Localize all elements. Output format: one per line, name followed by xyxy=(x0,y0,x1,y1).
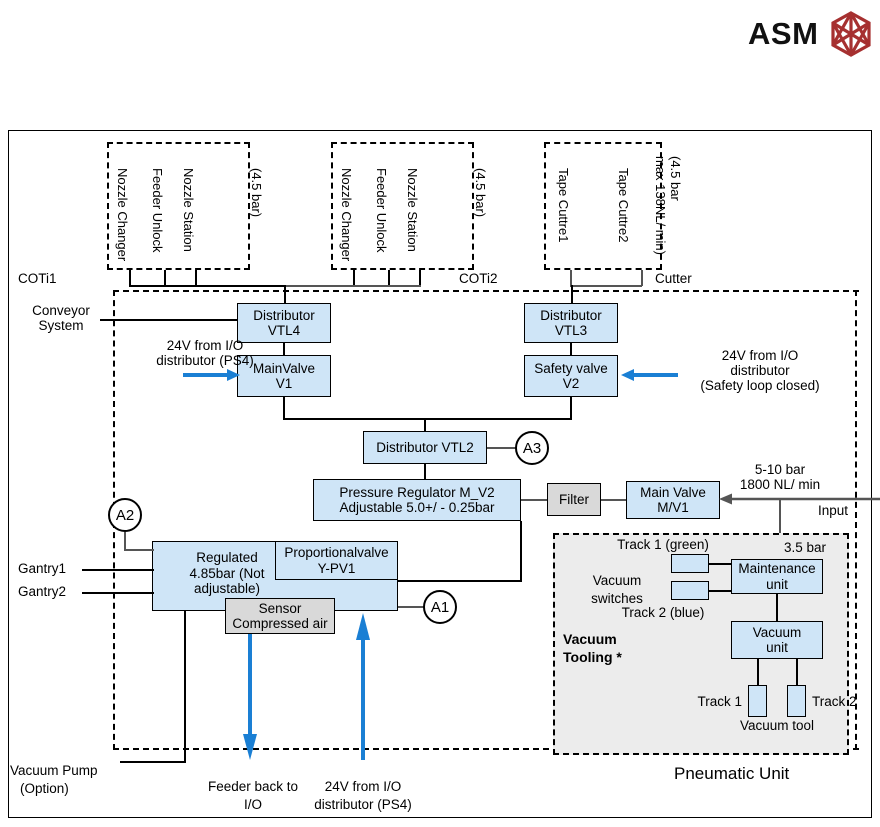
box-sensor-compressed-air[interactable]: Sensor Compressed air xyxy=(225,598,335,634)
vtl3-line1: Distributor xyxy=(540,308,602,324)
coti2-bracket xyxy=(285,285,421,287)
vacuum-pump-branch-line xyxy=(184,611,186,763)
label-gantry1: Gantry1 xyxy=(18,561,66,577)
cutter-drop-2 xyxy=(641,270,643,286)
label-vacuum-tool: Vacuum tool xyxy=(717,718,837,734)
box-filter[interactable]: Filter xyxy=(547,483,601,516)
label-track1-green: Track 1 (green) xyxy=(608,537,718,553)
box-proportional-valve[interactable]: Proportionalvalve Y-PV1 xyxy=(275,541,398,580)
label-coti2: COTi2 xyxy=(459,271,498,287)
label-vacuum-pressure: 3.5 bar xyxy=(784,540,826,556)
cutter-drop-1 xyxy=(570,270,572,286)
vacuum-unit-to-tool2-line xyxy=(796,659,798,686)
vtl3-line2: VTL3 xyxy=(540,323,602,339)
merge-bus-line xyxy=(283,418,572,420)
box-vacuum-unit[interactable]: Vacuum unit xyxy=(731,621,823,659)
label-coti2-nozzle-changer: Nozzle Changer xyxy=(339,168,354,261)
a2-to-regulated-line xyxy=(124,549,154,551)
vacuum-unit-line2: unit xyxy=(753,640,802,656)
label-bottom-24v-line1: 24V from I/O xyxy=(293,779,433,795)
marker-a2: A2 xyxy=(108,498,142,532)
box-pressure-regulator[interactable]: Pressure Regulator M_V2 Adjustable 5.0+/… xyxy=(313,479,521,521)
label-coti1: COTi1 xyxy=(18,271,57,287)
v2-line2: V2 xyxy=(534,376,608,392)
filter-to-mainvalve-line xyxy=(601,499,627,501)
v1-down-line xyxy=(283,397,285,419)
label-left-24v-line1: 24V from I/O xyxy=(130,338,280,354)
label-vacuum-tooling-line2: Tooling * xyxy=(563,650,622,666)
gantry2-line xyxy=(82,592,154,594)
coti1-drop-3 xyxy=(195,270,197,286)
regulated-line3: adjustable) xyxy=(167,581,287,597)
label-coti2-pressure: (4.5 bar) xyxy=(473,168,488,217)
sensor-line2: Compressed air xyxy=(232,616,327,632)
coti2-drop-2 xyxy=(388,270,390,286)
regulated-line2: 4.85bar (Not xyxy=(167,566,287,582)
conveyor-connection-line xyxy=(100,319,237,321)
label-coti1-pressure: (4.5 bar) xyxy=(249,168,264,217)
switch1-to-maintenance-line xyxy=(709,563,732,565)
label-cutter-pressure-line1: (4.5 bar xyxy=(668,156,683,201)
regulator-to-regulated-line xyxy=(397,580,522,582)
feeder-back-arrow-icon xyxy=(240,634,260,765)
regulator-down-line xyxy=(520,521,522,581)
label-conveyor-line1: Conveyor xyxy=(22,303,100,319)
right-24v-arrow-icon xyxy=(620,368,678,387)
label-tool-track2: Track 2 xyxy=(812,694,857,710)
label-bottom-24v-line2: distributor (PS4) xyxy=(293,797,433,813)
label-track2-blue: Track 2 (blue) xyxy=(608,605,718,621)
label-tape-cutter2: Tape Cuttre2 xyxy=(616,168,631,242)
cutter-bracket xyxy=(570,285,642,287)
regulator-to-filter-line xyxy=(521,499,548,501)
label-conveyor-line2: System xyxy=(22,318,100,334)
vtl4-to-v1-line xyxy=(283,343,285,355)
label-input: Input xyxy=(740,503,848,519)
v1-line2: V1 xyxy=(253,376,315,392)
gantry1-line xyxy=(82,569,154,571)
label-coti1-nozzle-changer: Nozzle Changer xyxy=(115,168,130,261)
switch2-to-maintenance-line xyxy=(709,590,732,592)
label-coti2-nozzle-station: Nozzle Station xyxy=(405,168,420,252)
box-distributor-vtl3[interactable]: Distributor VTL3 xyxy=(524,303,618,343)
regulator-line2: Adjustable 5.0+/ - 0.25bar xyxy=(339,500,494,516)
coti2-drop-1 xyxy=(353,270,355,286)
vacuum-pump-line xyxy=(120,761,186,763)
label-input-pressure-line2: 1800 NL/ min xyxy=(700,477,860,493)
label-vacuum-pump-line1: Vacuum Pump xyxy=(10,763,98,779)
asm-logo-text: ASM xyxy=(748,16,818,52)
mv1-line1: Main Valve xyxy=(640,485,706,501)
label-coti1-nozzle-station: Nozzle Station xyxy=(181,168,196,252)
vacuum-unit-line1: Vacuum xyxy=(753,625,802,641)
vtl2-label: Distributor VTL2 xyxy=(376,440,474,456)
box-safety-valve-v2[interactable]: Safety valve V2 xyxy=(524,355,618,397)
vtl2-to-regulator-line xyxy=(424,464,426,479)
box-distributor-vtl4[interactable]: Distributor VTL4 xyxy=(237,303,331,343)
coti1-bracket xyxy=(129,285,285,287)
box-vacuum-switch-track1[interactable] xyxy=(671,554,709,573)
box-distributor-vtl2[interactable]: Distributor VTL2 xyxy=(363,431,487,464)
marker-a1: A1 xyxy=(423,590,457,624)
asm-logo: ASM xyxy=(748,8,874,60)
label-right-24v-line3: (Safety loop closed) xyxy=(660,378,860,394)
label-right-24v-line1: 24V from I/O xyxy=(660,348,860,364)
maintenance-to-vacuum-line xyxy=(776,594,778,621)
regulator-line1: Pressure Regulator M_V2 xyxy=(339,485,494,501)
v2-down-line xyxy=(570,397,572,419)
vacuum-unit-to-tool1-line xyxy=(757,659,759,686)
label-coti2-feeder-unlock: Feeder Unlock xyxy=(374,168,389,253)
label-gantry2: Gantry2 xyxy=(18,584,66,600)
box-vacuum-tool-track1[interactable] xyxy=(748,685,767,717)
bottom-24v-arrow-icon xyxy=(353,610,373,765)
label-left-24v-line2: distributor (PS4) xyxy=(130,353,280,369)
regulated-line1: Regulated xyxy=(167,550,287,566)
marker-a3: A3 xyxy=(515,431,549,465)
bus-to-vtl2-line xyxy=(424,418,426,431)
label-cutter: Cutter xyxy=(655,271,692,287)
label-vacuum-switches-line1: Vacuum xyxy=(582,573,652,589)
sensor-line1: Sensor xyxy=(232,601,327,617)
vtl4-line2: VTL4 xyxy=(253,323,315,339)
coti1-drop-1 xyxy=(129,270,131,286)
box-maintenance-unit[interactable]: Maintenance unit xyxy=(731,559,823,594)
left-24v-arrow-icon xyxy=(183,368,241,387)
filter-label: Filter xyxy=(559,492,589,508)
vtl3-to-v2-line xyxy=(570,343,572,355)
label-input-pressure-line1: 5-10 bar xyxy=(700,462,860,478)
label-tool-track1: Track 1 xyxy=(680,694,742,710)
pneumatic-unit-title: Pneumatic Unit xyxy=(674,766,789,782)
proportional-line2: Y-PV1 xyxy=(284,561,388,577)
coti2-drop-3 xyxy=(419,270,421,286)
box-vacuum-tool-track2[interactable] xyxy=(787,685,806,717)
maintenance-line2: unit xyxy=(738,577,815,593)
regulated-to-a1-line xyxy=(398,606,424,608)
vtl4-line1: Distributor xyxy=(253,308,315,324)
label-right-24v-line2: distributor xyxy=(660,363,860,379)
label-vacuum-tooling-line1: Vacuum xyxy=(563,632,617,648)
a2-drop-line xyxy=(124,532,126,550)
hexagon-logo-icon xyxy=(828,10,874,63)
mv1-line2: M/V1 xyxy=(640,500,706,516)
label-cutter-pressure-line2: max 138NL/ min) xyxy=(653,156,668,255)
label-vacuum-pump-line2: (Option) xyxy=(20,781,69,797)
label-coti1-feeder-unlock: Feeder Unlock xyxy=(150,168,165,253)
box-vacuum-switch-track2[interactable] xyxy=(671,581,709,600)
coti1-drop-2 xyxy=(164,270,166,286)
v2-line1: Safety valve xyxy=(534,361,608,377)
label-tape-cutter1: Tape Cuttre1 xyxy=(556,168,571,242)
proportional-line1: Proportionalvalve xyxy=(284,545,388,561)
maintenance-line1: Maintenance xyxy=(738,561,815,577)
vtl2-to-a3-line xyxy=(487,447,516,449)
